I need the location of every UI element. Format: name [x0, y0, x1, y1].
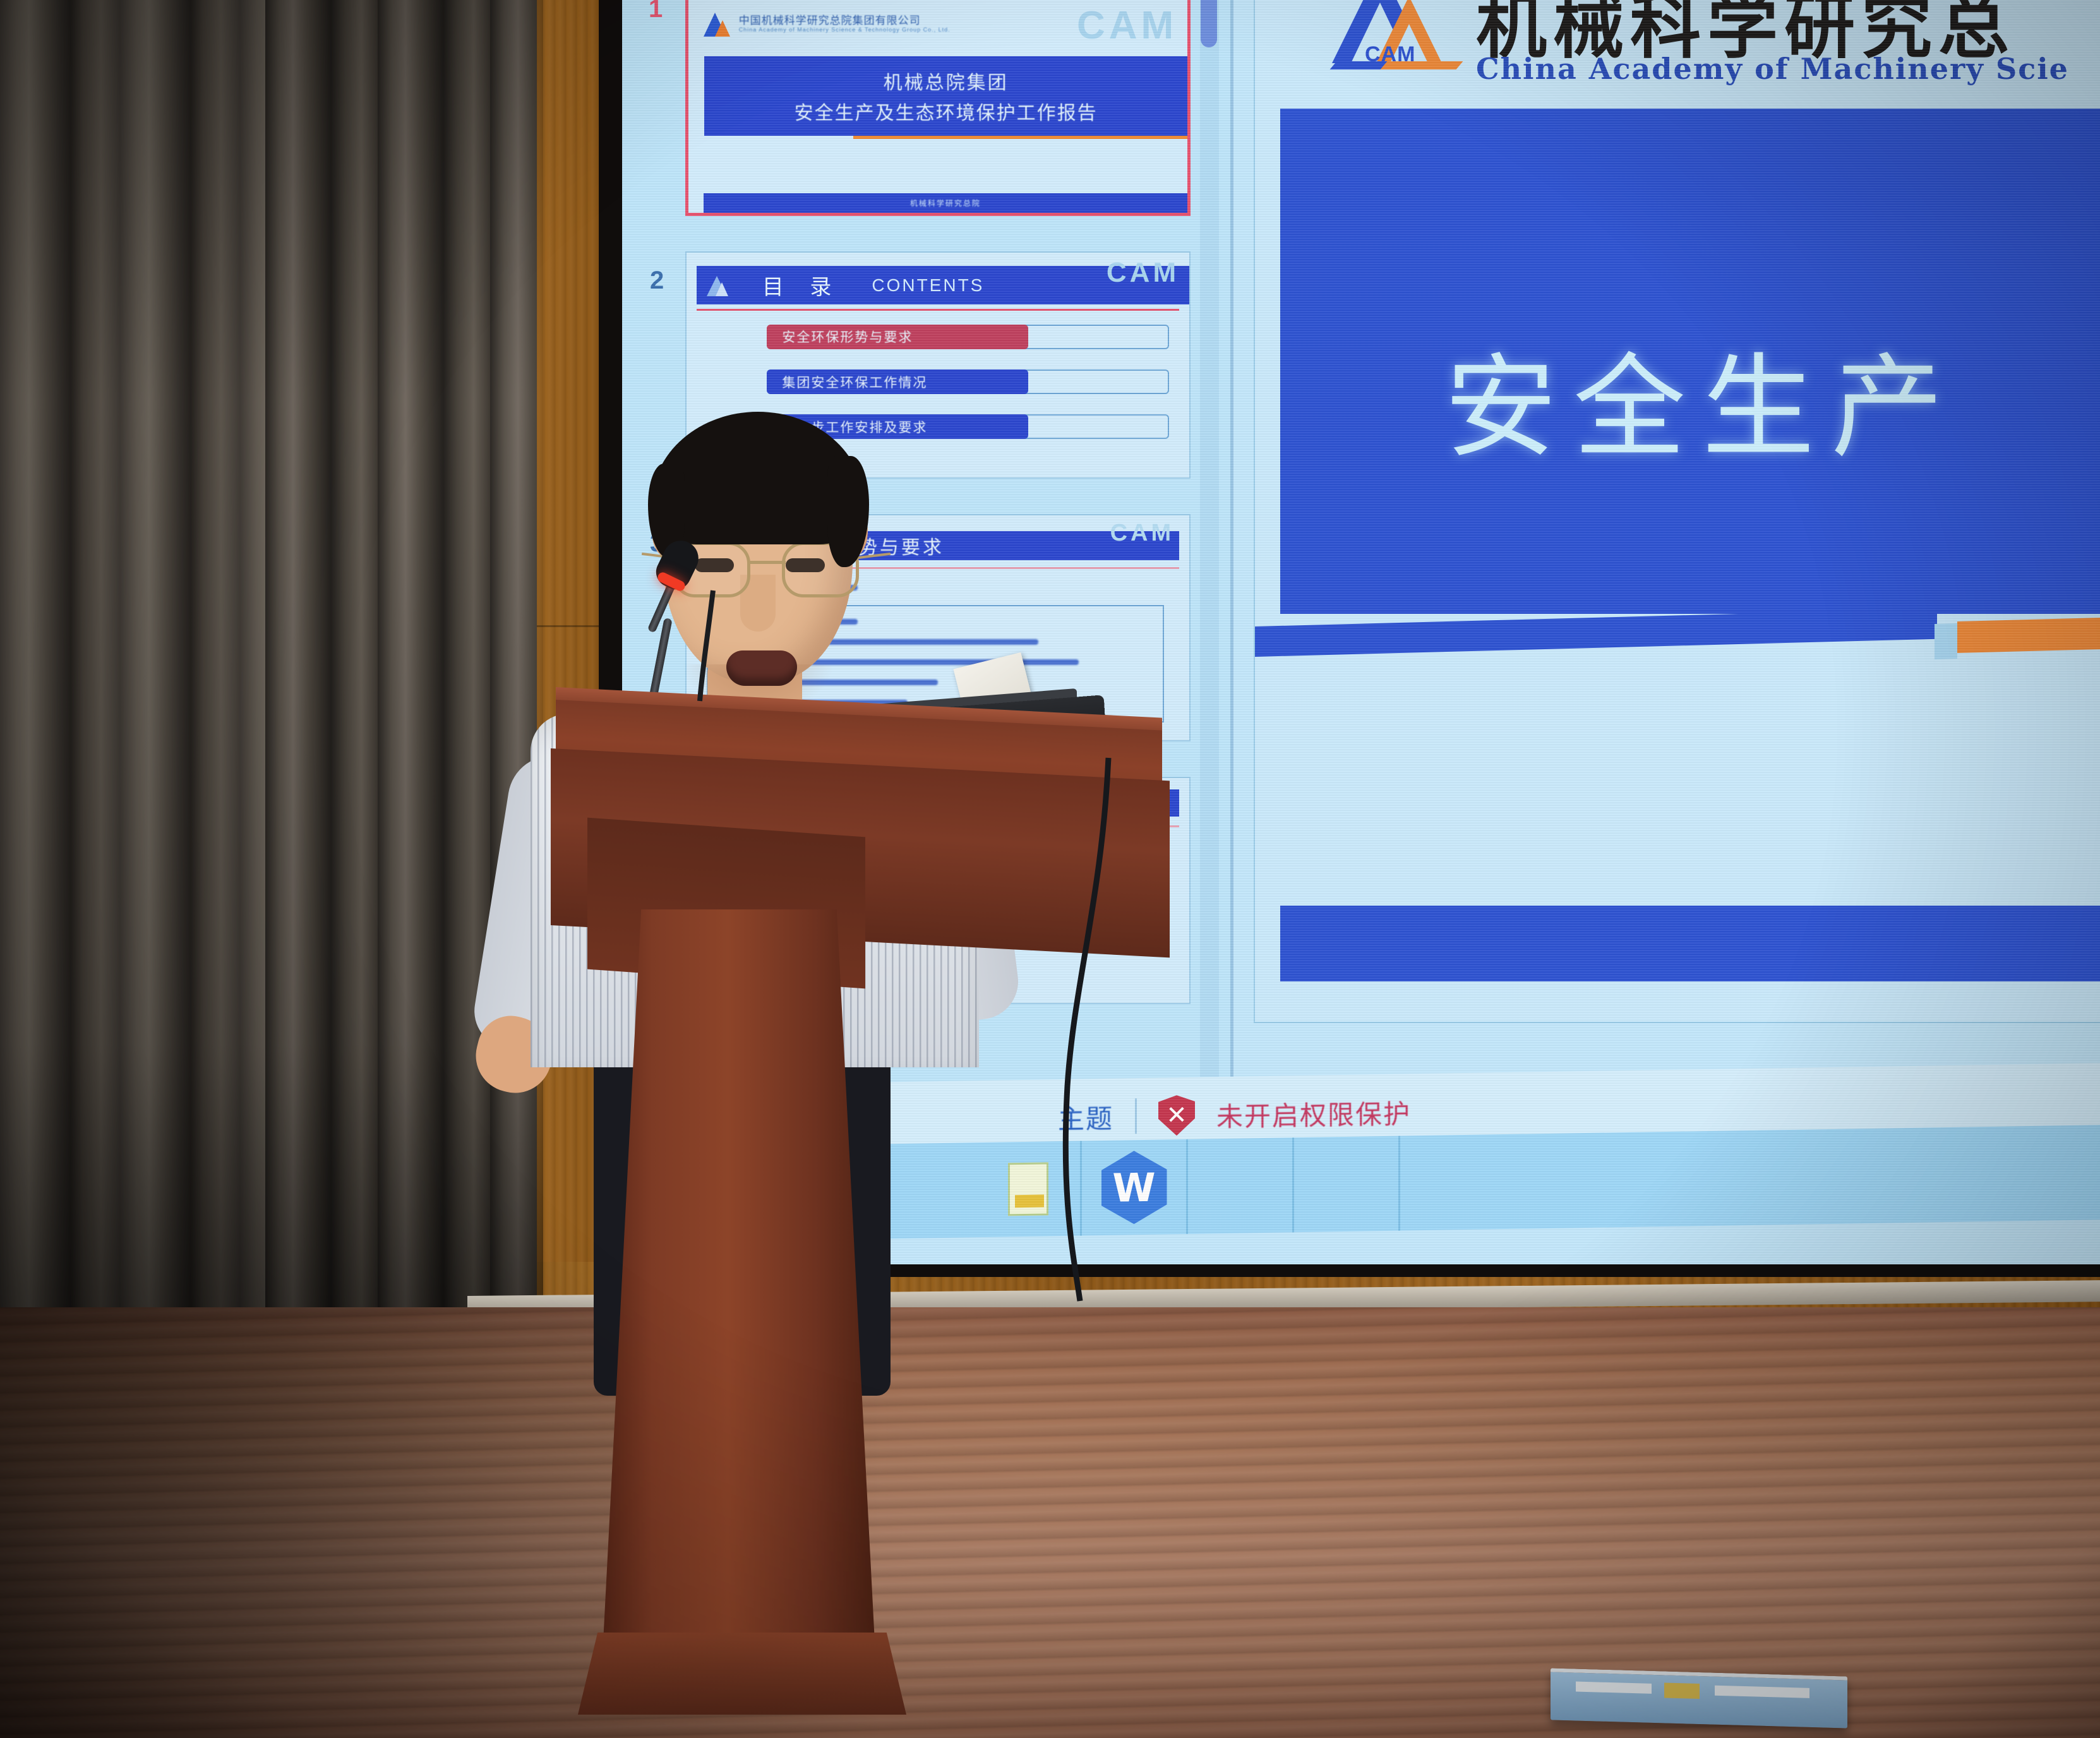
slide-bottom-bar: [1280, 906, 2100, 981]
theme-button[interactable]: 主题: [1058, 1097, 1113, 1136]
stripe-gap: [1935, 623, 1957, 659]
thumb1-cam-watermark: CAM: [1077, 3, 1177, 48]
thumb1-company-cn: 中国机械科学研究总院集团有限公司: [739, 15, 921, 27]
thumb1-title-band: 机械总院集团 安全生产及生态环境保护工作报告: [704, 56, 1187, 136]
speaker-hair: [652, 412, 864, 544]
speaker-mouth: [726, 650, 797, 686]
stripe-orange: [1957, 616, 2100, 653]
main-slide-canvas[interactable]: CAM 机械科学研究总 China Academy of Machinery S…: [1254, 0, 2100, 1023]
permission-warning-label[interactable]: 未开启权限保护: [1216, 1093, 1411, 1134]
podium-base: [578, 1633, 906, 1715]
slide-title-text: 安全生产: [1444, 317, 1960, 479]
slide-decorative-stripes: [1255, 613, 2100, 688]
thumb1-orange-rule: [853, 136, 1187, 139]
stripe-blue: [1255, 609, 1937, 657]
status-separator: [1135, 1098, 1137, 1134]
thumbnail-scrollbar-track[interactable]: [1200, 0, 1219, 1077]
thumbnail-number-1: 1: [649, 0, 663, 23]
taskbar-cell-wps[interactable]: W: [1082, 1139, 1188, 1236]
glasses-bridge: [749, 561, 786, 564]
thumb3-cam-watermark: CAM: [1110, 520, 1175, 547]
curtain-shadow-overlay: [0, 0, 543, 1339]
taskbar-cell-empty-1[interactable]: [1188, 1137, 1294, 1234]
thumb1-logo-row: 中国机械科学研究总院集团有限公司 China Academy of Machin…: [704, 5, 1023, 43]
pane-splitter[interactable]: [1230, 0, 1233, 1089]
thumb1-title-line1: 机械总院集团: [884, 67, 1009, 95]
thumbnail-scrollbar-thumb[interactable]: [1201, 0, 1217, 47]
thumb2-cam-watermark: CAM: [1107, 257, 1179, 289]
taskbar-cell-document[interactable]: [976, 1141, 1082, 1238]
taskbar-cell-empty-2[interactable]: [1294, 1136, 1400, 1233]
thumb1-footer-text: 机械科学研究总院: [910, 198, 981, 208]
podium-column: [603, 909, 875, 1642]
cam-logo-text: CAM: [1365, 42, 1415, 67]
thumb1-title-line2: 安全生产及生态环境保护工作报告: [795, 97, 1098, 125]
thumb1-footer: 机械科学研究总院: [704, 193, 1187, 213]
document-icon[interactable]: [1008, 1162, 1048, 1216]
slide-thumbnail-1[interactable]: 中国机械科学研究总院集团有限公司 China Academy of Machin…: [685, 0, 1191, 216]
thumb1-company-name: 中国机械科学研究总院集团有限公司 China Academy of Machin…: [739, 15, 951, 33]
shield-x-icon[interactable]: ✕: [1158, 1095, 1195, 1136]
glasses-temple-right: [858, 553, 891, 559]
conference-hall-scene: 1 中国机械科学研究总院集团有限公司 China Academy of Mach…: [0, 0, 2100, 1738]
slide-company-name-en: China Academy of Machinery Scie: [1476, 52, 2069, 86]
cam-triangle-logo-icon: [704, 11, 733, 37]
cam-triangle-logo-icon: CAM: [1329, 0, 1462, 72]
thumb1-company-en: China Academy of Machinery Science & Tec…: [739, 27, 951, 33]
wps-office-icon[interactable]: W: [1101, 1150, 1167, 1225]
floor-sign-panel: [1551, 1668, 1847, 1728]
floor-panel-chip: [1664, 1682, 1700, 1699]
